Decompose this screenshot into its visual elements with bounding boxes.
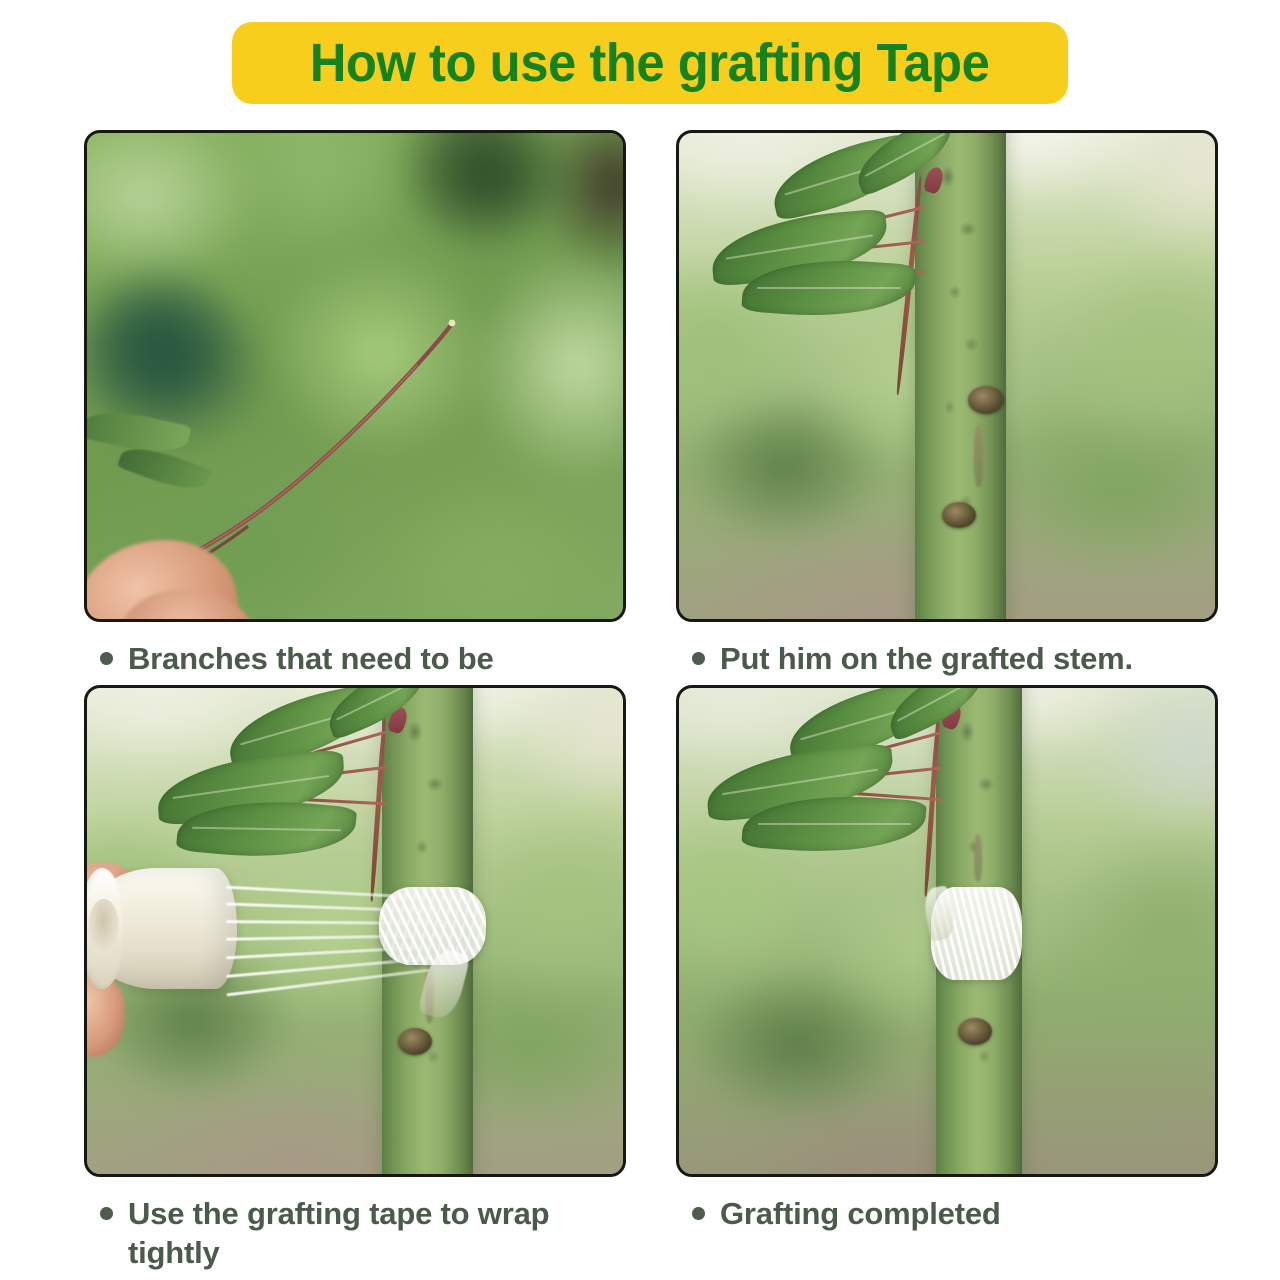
step-3-caption: Use the grafting tape to wrap tightly (84, 1195, 626, 1273)
bark-knot (398, 1028, 432, 1055)
step-2-caption-text: Put him on the grafted stem. (720, 640, 1133, 679)
steps-grid: Branches that need to be grafted. (0, 130, 1280, 1280)
step-1-photo (84, 130, 626, 622)
step-4: Grafting completed (676, 685, 1218, 1234)
page-title: How to use the grafting Tape (310, 36, 990, 90)
grafting-tape-roll (87, 868, 237, 990)
bark-knot (942, 502, 976, 528)
step-1: Branches that need to be grafted. (84, 130, 626, 718)
step-2: Put him on the grafted stem. (676, 130, 1218, 679)
title-banner: How to use the grafting Tape (232, 22, 1068, 104)
step-4-caption-text: Grafting completed (720, 1195, 1001, 1234)
bullet-icon (692, 652, 705, 665)
step-3: Use the grafting tape to wrap tightly (84, 685, 626, 1273)
bullet-icon (100, 1207, 113, 1220)
step-3-caption-text: Use the grafting tape to wrap tightly (128, 1195, 568, 1273)
infographic-page: How to use the grafting Tape (0, 0, 1280, 1280)
bark-scar (974, 425, 983, 487)
tree-trunk (915, 133, 1006, 619)
step-2-photo (676, 130, 1218, 622)
tape-wrap (379, 887, 486, 965)
bullet-icon (692, 1207, 705, 1220)
step-2-caption: Put him on the grafted stem. (676, 640, 1218, 679)
step-3-photo (84, 685, 626, 1177)
bark-scar (974, 834, 982, 882)
bullet-icon (100, 652, 113, 665)
step-4-caption: Grafting completed (676, 1195, 1218, 1234)
step-4-photo (676, 685, 1218, 1177)
bark-knot (968, 386, 1004, 414)
